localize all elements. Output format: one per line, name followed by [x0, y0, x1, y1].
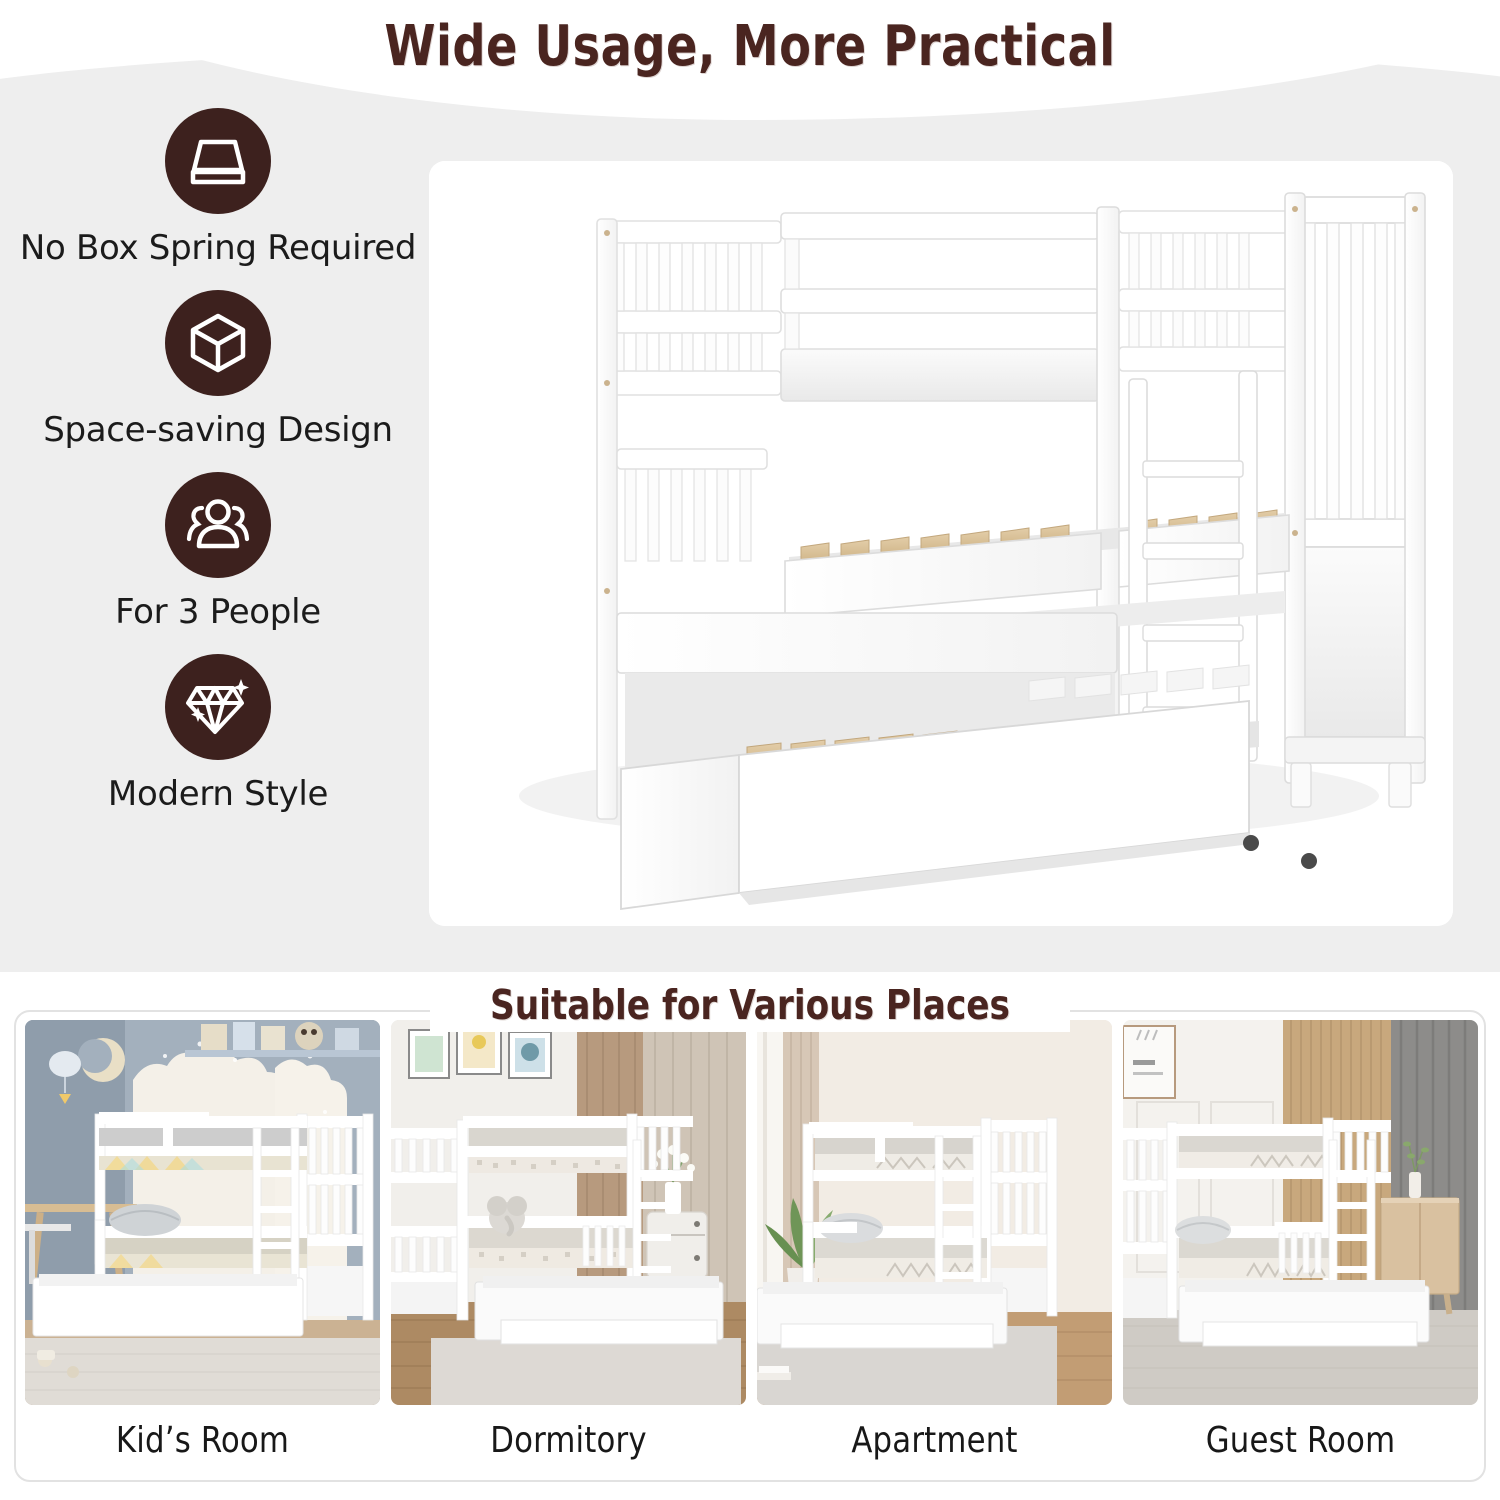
place-label: Apartment [766, 1420, 1103, 1461]
feature-list: No Box Spring Required Space-saving Desi… [8, 108, 428, 814]
feature-label: Modern Style [108, 774, 328, 814]
dormitory-scene [391, 1020, 746, 1405]
mattress-icon [165, 108, 271, 214]
page-title: Wide Usage, More Practical [60, 14, 1440, 79]
diamond-icon [165, 654, 271, 760]
place-card-kids-room[interactable]: Kid’s Room [25, 1020, 380, 1410]
place-card-apartment[interactable]: Apartment [757, 1020, 1112, 1410]
top-section: Wide Usage, More Practical No Box Spring… [0, 0, 1500, 972]
place-label: Dormitory [400, 1420, 737, 1461]
feature-label: No Box Spring Required [20, 228, 416, 268]
place-label: Guest Room [1132, 1420, 1469, 1461]
feature-label: For 3 People [115, 592, 321, 632]
place-card-guest-room[interactable]: Guest Room [1123, 1020, 1478, 1410]
guest-room-scene [1123, 1020, 1478, 1405]
place-label: Kid’s Room [34, 1420, 371, 1461]
cube-icon [165, 290, 271, 396]
feature-label: Space-saving Design [43, 410, 393, 450]
feature-item-modern-style: Modern Style [8, 654, 428, 814]
feature-item-no-box-spring: No Box Spring Required [8, 108, 428, 268]
places-grid: Kid’s Room [25, 1020, 1475, 1410]
bunk-bed-illustration [429, 161, 1453, 926]
apartment-scene [757, 1020, 1112, 1405]
place-card-dormitory[interactable]: Dormitory [391, 1020, 746, 1410]
places-section: Suitable for Various Places [0, 972, 1500, 1500]
kids-room-scene [25, 1020, 380, 1405]
product-image-card [429, 161, 1453, 926]
feature-item-for-3-people: For 3 People [8, 472, 428, 632]
feature-item-space-saving: Space-saving Design [8, 290, 428, 450]
places-section-title: Suitable for Various Places [53, 981, 1448, 1029]
people-icon [165, 472, 271, 578]
